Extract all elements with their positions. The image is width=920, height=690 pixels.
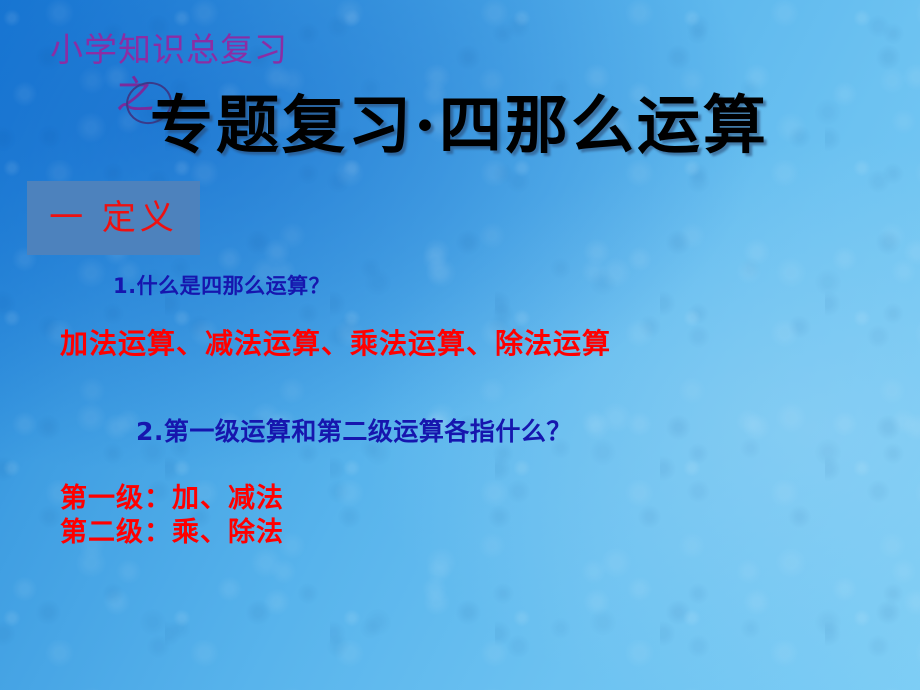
presentation-slide: 小学知识总复习 之 专题复习·四那么运算 一 定义 1.什么是四那么运算？ 加法…	[0, 0, 920, 690]
answer-2-line-1-text: 第一级：加、减法	[60, 484, 284, 514]
section-header-box: 一 定义	[27, 181, 200, 255]
question-1-text: 1.什么是四那么运算？	[113, 275, 330, 298]
answer-2-line-2-text: 第二级：乘、除法	[60, 518, 284, 548]
slide-eyebrow-heading: 小学知识总复习	[50, 33, 288, 66]
answer-1-text: 加法运算、减法运算、乘法运算、除法运算	[60, 329, 611, 360]
section-header-label: 一 定义	[49, 201, 178, 235]
page-title: 专题复习·四那么运算	[150, 92, 769, 158]
question-2-text: 2.第一级运算和第二级运算各指什么？	[136, 418, 572, 446]
